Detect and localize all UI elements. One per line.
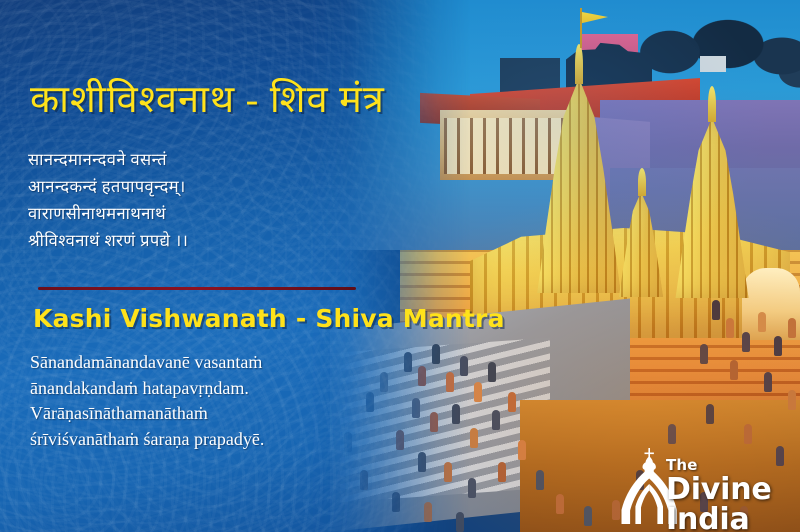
transliterated-verse-line-4: śrīviśvanāthaṁ śaraṇa prapadyē.: [30, 427, 264, 453]
white-building: [700, 56, 726, 72]
transliterated-verse: Sānandamānandavanē vasantaṁ ānandakandaṁ…: [30, 350, 264, 452]
sanskrit-verse-line-3: वाराणसीनाथमनाथनाथं: [28, 200, 188, 227]
logo-wordmark: The Divine India: [666, 458, 798, 532]
transliterated-verse-line-1: Sānandamānandavanē vasantaṁ: [30, 350, 264, 376]
sanskrit-verse-line-4: श्रीविश्वनाथं शरणं प्रपद्ये ।।: [28, 227, 188, 254]
flag-pole: [580, 8, 582, 48]
transliterated-verse-line-2: ānandakandaṁ hatapavṛṇdam.: [30, 376, 264, 402]
shikhara-finial-right: [708, 86, 716, 122]
section-divider: [38, 287, 356, 290]
sanskrit-verse-line-2: आनन्दकन्दं हतपापवृन्दम्।: [28, 173, 188, 200]
hindi-title: काशीविश्वनाथ - शिव मंत्र: [30, 81, 385, 121]
logo-prefix: The: [666, 458, 798, 473]
sanskrit-verse-line-1: सानन्दमानन्दवने वसन्तं: [28, 146, 188, 173]
shikhara-finial-left: [575, 44, 583, 84]
english-title: Kashi Vishwanath - Shiva Mantra: [33, 304, 505, 333]
mantra-banner: काशीविश्वनाथ - शिव मंत्र सानन्दमानन्दवने…: [0, 0, 800, 532]
site-logo[interactable]: The Divine India: [612, 448, 798, 524]
transliterated-verse-line-3: Vārāṇasīnāthamanāthaṁ: [30, 401, 264, 427]
distant-building-block: [500, 58, 560, 92]
logo-name: Divine India: [666, 475, 798, 532]
shikhara-finial-center: [638, 168, 646, 196]
sanskrit-verse: सानन्दमानन्दवने वसन्तं आनन्दकन्दं हतपापव…: [28, 146, 188, 254]
text-content: काशीविश्वनाथ - शिव मंत्र सानन्दमानन्दवने…: [0, 0, 470, 532]
